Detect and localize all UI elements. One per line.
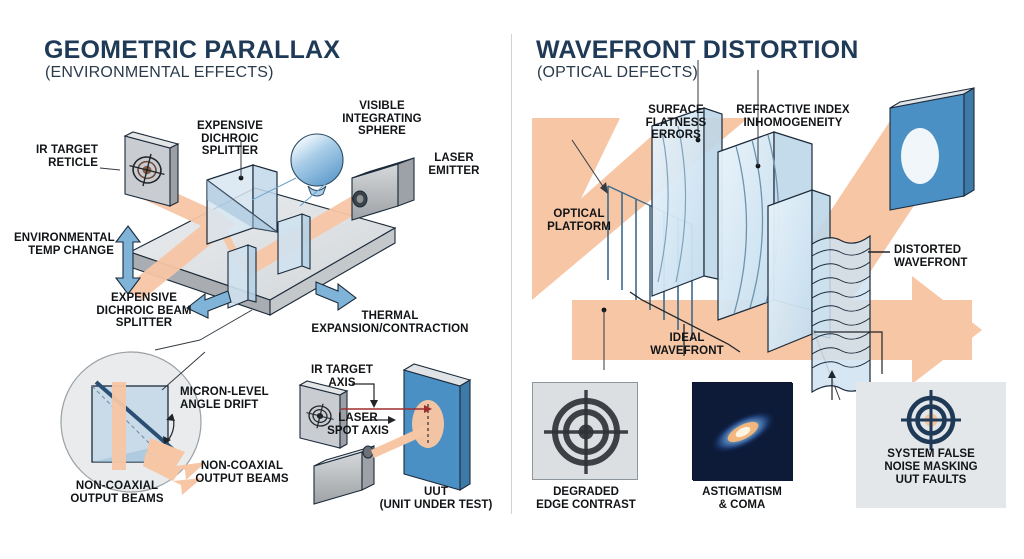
label-optical-platform: OPTICAL PLATFORM [534, 208, 624, 233]
reticle-navy-icon [856, 382, 1006, 452]
label-micron-level-angle-drift: MICRON-LEVEL ANGLE DRIFT [180, 386, 290, 411]
laser-emitter-small [314, 446, 374, 504]
label-ideal-wavefront: IDEAL WAVEFRONT [640, 332, 734, 357]
label-surface-flatness-errors: SURFACE FLATNESS ERRORS [630, 104, 722, 142]
label-uut-unit-under-test: UUT (UNIT UNDER TEST) [366, 486, 506, 511]
ir-target-reticle-plate [125, 132, 178, 206]
label-non-coaxial-output-beams-right: NON-COAXIAL OUTPUT BEAMS [186, 460, 298, 485]
label-thermal-expansion-contraction: THERMAL EXPANSION/CONTRACTION [310, 310, 470, 335]
caption-system-false-noise: SYSTEM FALSE NOISE MASKING UUT FAULTS [856, 448, 1006, 487]
degraded-edge-contrast-image [532, 382, 638, 480]
label-visible-integrating-sphere: VISIBLE INTEGRATING SPHERE [334, 100, 430, 138]
reticle-gray-icon [533, 383, 639, 481]
right-optic-plate [278, 214, 310, 274]
caption-astigmatism-coma: ASTIGMATISM & COMA [686, 486, 798, 512]
label-laser-spot-axis: LASER SPOT AXIS [318, 412, 398, 437]
astigmatism-coma-image [692, 382, 792, 480]
dichroic-beam-splitter-plate [228, 245, 256, 308]
optic-surface-flatness [652, 60, 722, 296]
label-expensive-dichroic-beam-splitter: EXPENSIVE DICHROIC BEAM SPLITTER [84, 292, 204, 330]
caption-degraded-edge-contrast: DEGRADED EDGE CONTRAST [526, 486, 646, 512]
thermal-expansion-arrow [316, 282, 356, 310]
label-laser-emitter: LASER EMITTER [414, 152, 494, 177]
label-ir-target-axis: IR TARGET AXIS [300, 364, 384, 389]
panel-geometric-parallax: GEOMETRIC PARALLAX (ENVIRONMENTAL EFFECT… [0, 0, 512, 559]
label-expensive-dichroic-splitter: EXPENSIVE DICHROIC SPLITTER [178, 120, 282, 158]
label-ir-target-reticle: IR TARGET RETICLE [12, 144, 98, 169]
label-refractive-index-inhomogeneity: REFRACTIVE INDEX INHOMOGENEITY [718, 104, 868, 129]
uut-panel [404, 364, 470, 490]
label-non-coaxial-output-beams-left: NON-COAXIAL OUTPUT BEAMS [62, 480, 172, 505]
label-environmental-temp-change: ENVIRONMENTAL TEMP CHANGE [14, 232, 114, 257]
system-false-noise-image: SYSTEM FALSE NOISE MASKING UUT FAULTS [856, 382, 1006, 508]
panel-wavefront-distortion: WAVEFRONT DISTORTION (OPTICAL DEFECTS) [512, 0, 1024, 559]
blue-aperture-plate [890, 88, 974, 210]
angle-drift-inset [61, 352, 206, 495]
star-blur-icon [693, 383, 793, 481]
laser-emitter-body [352, 158, 414, 220]
label-distorted-wavefront: DISTORTED WAVEFRONT [894, 244, 994, 269]
